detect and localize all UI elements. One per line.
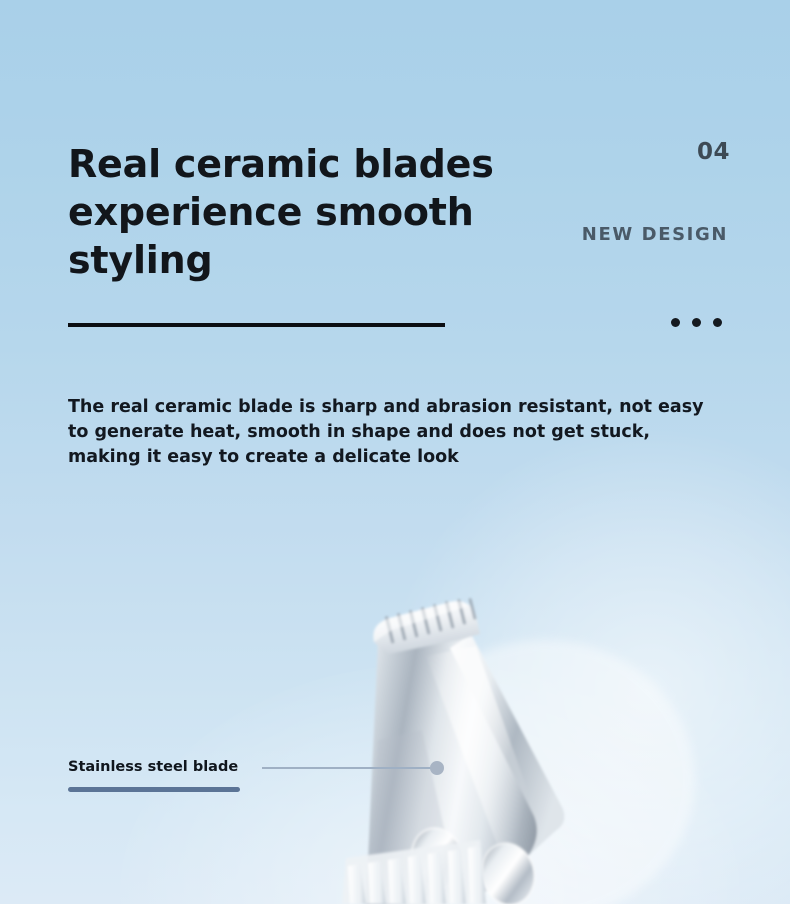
background-glow-bottom — [120, 664, 740, 904]
step-number: 04 — [697, 139, 730, 165]
title-underline-rule — [68, 323, 445, 327]
product-image-blade — [330, 590, 790, 904]
callout-leader-line — [262, 767, 434, 769]
callout-marker-dot — [430, 761, 444, 775]
dot-2 — [692, 318, 701, 327]
section-kicker: NEW DESIGN — [582, 224, 728, 245]
page-title: Real ceramic blades experience smooth st… — [68, 140, 568, 284]
callout-label-stainless-steel-blade: Stainless steel blade — [68, 759, 238, 775]
product-feature-slide: Real ceramic blades experience smooth st… — [0, 0, 790, 904]
background-glow-right — [390, 430, 790, 904]
callout-underline-bar — [68, 787, 240, 792]
dot-1 — [671, 318, 680, 327]
dot-3 — [713, 318, 722, 327]
body-paragraph: The real ceramic blade is sharp and abra… — [68, 395, 728, 470]
decorative-dots — [671, 318, 722, 327]
